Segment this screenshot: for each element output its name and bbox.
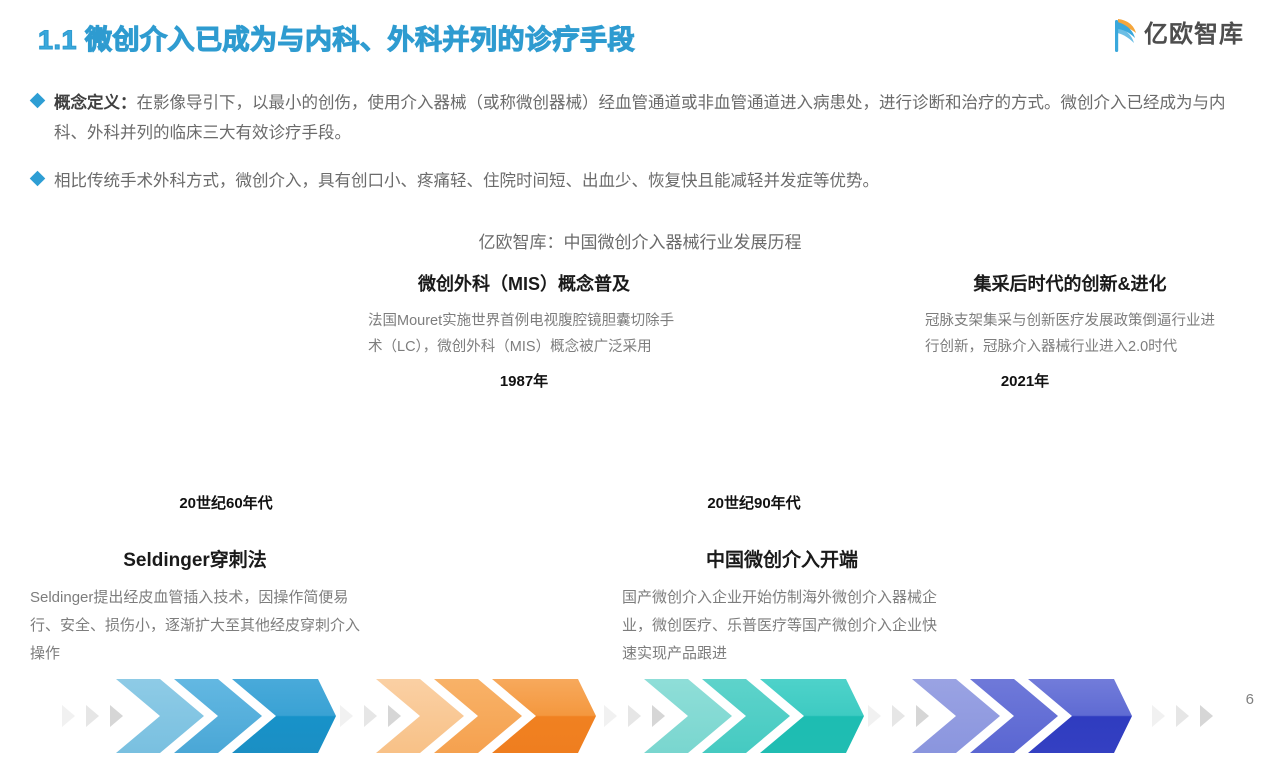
arrow-separator-dots-5	[1152, 705, 1213, 727]
milestone-mis-heading: 微创外科（MIS）概念普及	[368, 270, 680, 296]
milestone-seldinger-year: 20世纪60年代	[112, 492, 340, 513]
bullet-body-0: 在影像导引下，以最小的创伤，使用介入器械（或称微创器械）经血管通道或非血管通道进…	[54, 94, 1226, 142]
bullet-list: 概念定义：在影像导引下，以最小的创伤，使用介入器械（或称微创器械）经血管通道或非…	[32, 88, 1237, 214]
bullet-item-0: 概念定义：在影像导引下，以最小的创伤，使用介入器械（或称微创器械）经血管通道或非…	[32, 88, 1237, 148]
milestone-china-start-heading: 中国微创介入开端	[622, 545, 942, 572]
chevron-group-blue	[112, 677, 340, 755]
logo-leaf-icon	[1114, 16, 1140, 54]
milestone-mis: 微创外科（MIS）概念普及 法国Mouret实施世界首例电视腹腔镜胆囊切除手术（…	[368, 270, 680, 391]
diamond-bullet-icon	[30, 171, 46, 187]
logo-text: 亿欧智库	[1144, 23, 1244, 47]
page-title: 1.1 微创介入已成为与内科、外科并列的诊疗手段	[38, 18, 635, 57]
triangle-icon	[1176, 705, 1189, 727]
milestone-seldinger: Seldinger穿刺法 Seldinger提出经皮血管插入技术，因操作简便易行…	[30, 545, 360, 668]
timeline-diagram: 微创外科（MIS）概念普及 法国Mouret实施世界首例电视腹腔镜胆囊切除手术（…	[0, 262, 1280, 682]
milestone-post-vbp-body: 冠脉支架集采与创新医疗发展政策倒逼行业进行创新，冠脉介入器械行业进入2.0时代	[925, 308, 1215, 360]
triangle-icon	[1152, 705, 1165, 727]
milestone-post-vbp-year: 2021年	[925, 370, 1125, 391]
bullet-body-1: 相比传统手术外科方式，微创介入，具有创口小、疼痛轻、住院时间短、出血少、恢复快且…	[54, 172, 879, 190]
brand-logo: 亿欧智库	[1114, 16, 1244, 54]
milestone-china-start-body: 国产微创介入企业开始仿制海外微创介入器械企业，微创医疗、乐普医疗等国产微创介入企…	[622, 584, 942, 668]
triangle-icon	[62, 705, 75, 727]
triangle-icon	[340, 705, 353, 727]
chevron-group-orange	[372, 677, 600, 755]
bullet-text-0: 概念定义：在影像导引下，以最小的创伤，使用介入器械（或称微创器械）经血管通道或非…	[54, 88, 1237, 148]
triangle-icon	[892, 705, 905, 727]
triangle-icon	[868, 705, 881, 727]
milestone-seldinger-year-label: 20世纪60年代	[112, 492, 340, 513]
milestone-mis-year: 1987年	[368, 370, 680, 391]
bullet-item-1: 相比传统手术外科方式，微创介入，具有创口小、疼痛轻、住院时间短、出血少、恢复快且…	[32, 166, 1237, 196]
triangle-icon	[1200, 705, 1213, 727]
milestone-china-start: 中国微创介入开端 国产微创介入企业开始仿制海外微创介入器械企业，微创医疗、乐普医…	[622, 545, 942, 668]
milestone-china-start-year: 20世纪90年代	[640, 492, 868, 513]
milestone-china-start-year-label: 20世纪90年代	[640, 492, 868, 513]
milestone-post-vbp-heading: 集采后时代的创新&进化	[925, 270, 1215, 296]
triangle-icon	[86, 705, 99, 727]
milestone-seldinger-heading: Seldinger穿刺法	[30, 545, 360, 572]
page-number: 6	[1246, 691, 1254, 708]
bullet-text-1: 相比传统手术外科方式，微创介入，具有创口小、疼痛轻、住院时间短、出血少、恢复快且…	[54, 166, 1237, 196]
bullet-lead-0: 概念定义：	[54, 94, 137, 112]
timeline-arrow-row	[0, 677, 1280, 757]
chevron-group-purple	[908, 677, 1136, 755]
milestone-mis-body: 法国Mouret实施世界首例电视腹腔镜胆囊切除手术（LC），微创外科（MIS）概…	[368, 308, 680, 360]
chevron-group-teal	[640, 677, 868, 755]
milestone-seldinger-body: Seldinger提出经皮血管插入技术，因操作简便易行、安全、损伤小，逐渐扩大至…	[30, 584, 360, 668]
diamond-bullet-icon	[30, 93, 46, 109]
milestone-post-vbp: 集采后时代的创新&进化 冠脉支架集采与创新医疗发展政策倒逼行业进行创新，冠脉介入…	[925, 270, 1215, 391]
chart-caption: 亿欧智库：中国微创介入器械行业发展历程	[0, 228, 1280, 253]
triangle-icon	[604, 705, 617, 727]
